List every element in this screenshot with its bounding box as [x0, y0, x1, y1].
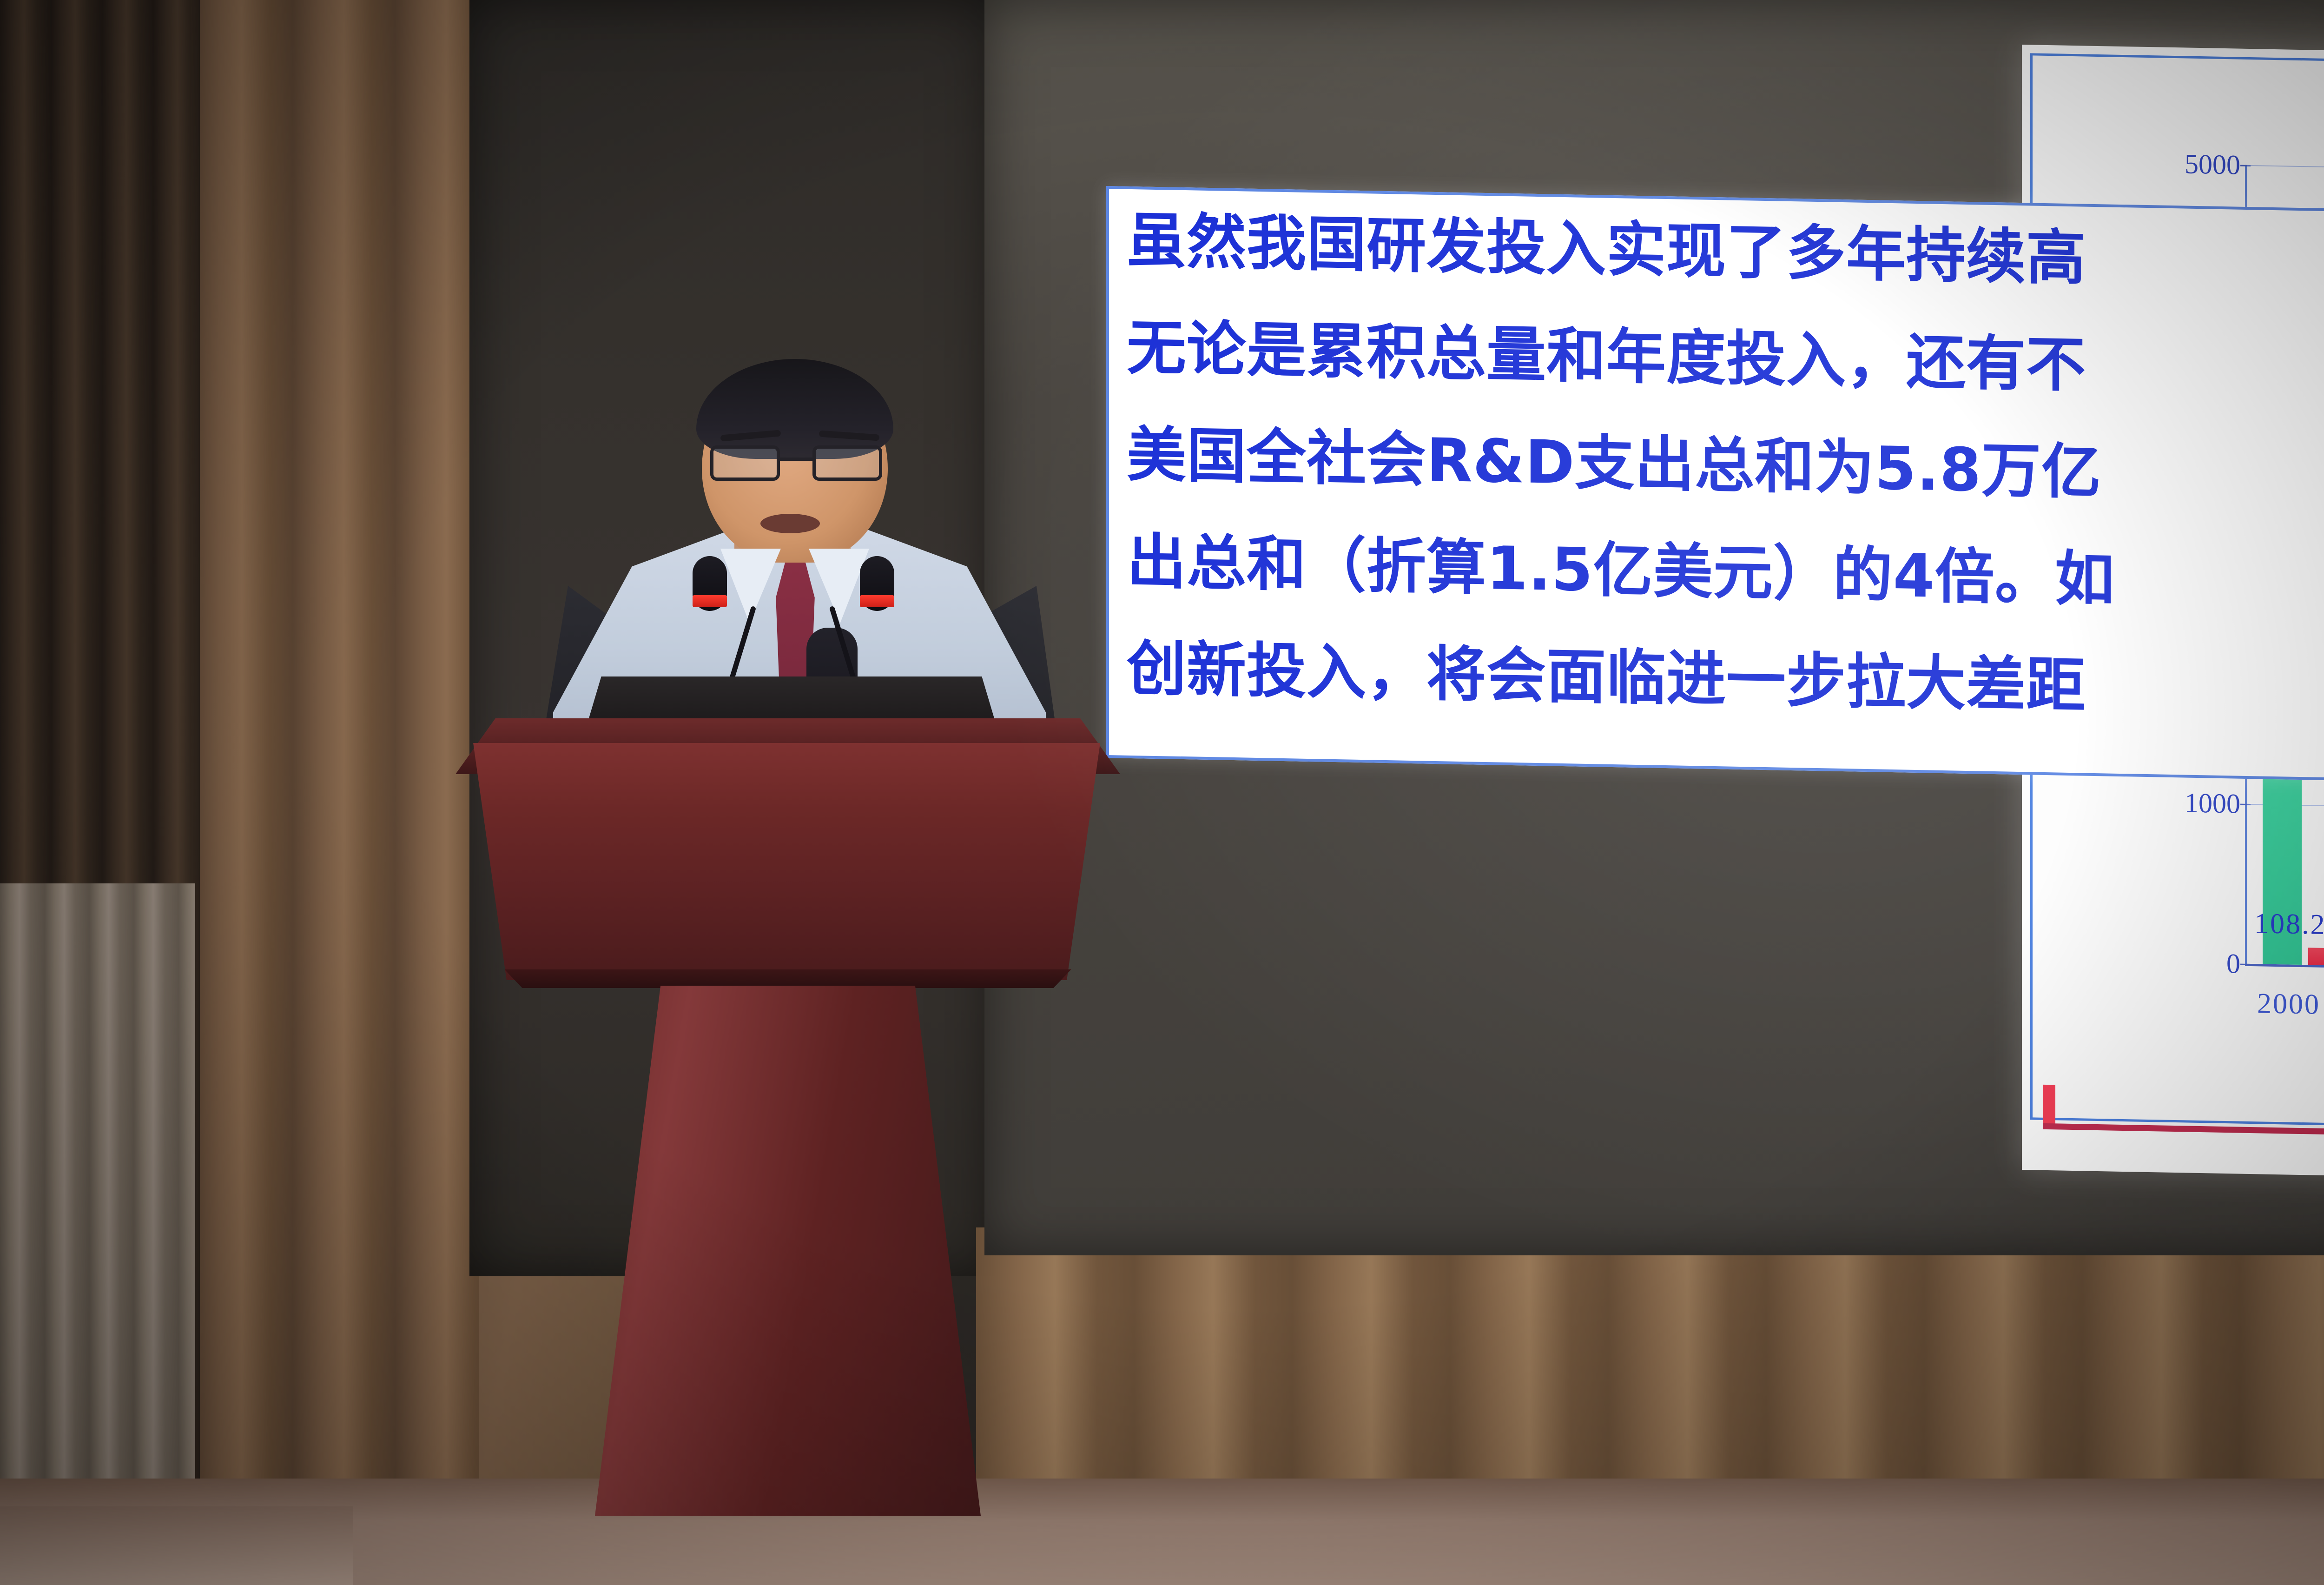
wood-wall-panel-left — [191, 0, 479, 1585]
chart-data-label: 108.2 — [2254, 907, 2324, 942]
chart-x-tick-label: 2000 — [2257, 987, 2320, 1021]
eyeglasses-icon — [707, 445, 885, 482]
podium-shadow-shelf — [493, 969, 1083, 988]
presentation-photo-scene: 中美R&D经费支 500040003000200010000 108.2125.… — [0, 0, 2324, 1585]
speaker-hair — [696, 359, 893, 459]
overlay-text-line-1: 虽然我国研发投入实现了多年持续高 — [1127, 212, 2086, 289]
lens-left — [710, 445, 780, 481]
slide-text-overlay-box: 虽然我国研发投入实现了多年持续高 无论是累积总量和年度投入，还有不 美国全社会R… — [1106, 186, 2324, 781]
chart-y-tick-label: 0 — [2101, 945, 2240, 980]
chart-y-tick-label: 5000 — [2101, 146, 2240, 181]
lens-right — [812, 445, 882, 481]
overlay-text-line-5: 创新投入，将会面临进一步拉大差距 — [1127, 639, 2086, 716]
overlay-text-line-3: 美国全社会R&D支出总和为5.8万亿 — [1127, 425, 2101, 503]
podium-column — [595, 986, 981, 1516]
overlay-text-line-4: 出总和（折算1.5亿美元）的4倍。如 — [1127, 532, 2115, 610]
overlay-text-line-2: 无论是累积总量和年度投入，还有不 — [1127, 318, 2086, 396]
chart-y-tick-label: 1000 — [2101, 786, 2240, 820]
slide-accent-red-line — [2043, 1123, 2324, 1135]
chart-y-tick — [2240, 964, 2251, 965]
podium-front-panel — [453, 743, 1120, 980]
speaker-mouth — [760, 514, 820, 533]
chart-x-axis — [2245, 964, 2324, 986]
chart-bar-china — [2308, 948, 2324, 966]
slide-accent-red-block — [2043, 1085, 2055, 1127]
stage-floor-left — [0, 1506, 353, 1585]
wood-wall-panel-right — [976, 1227, 2324, 1488]
glasses-bridge — [780, 458, 813, 461]
